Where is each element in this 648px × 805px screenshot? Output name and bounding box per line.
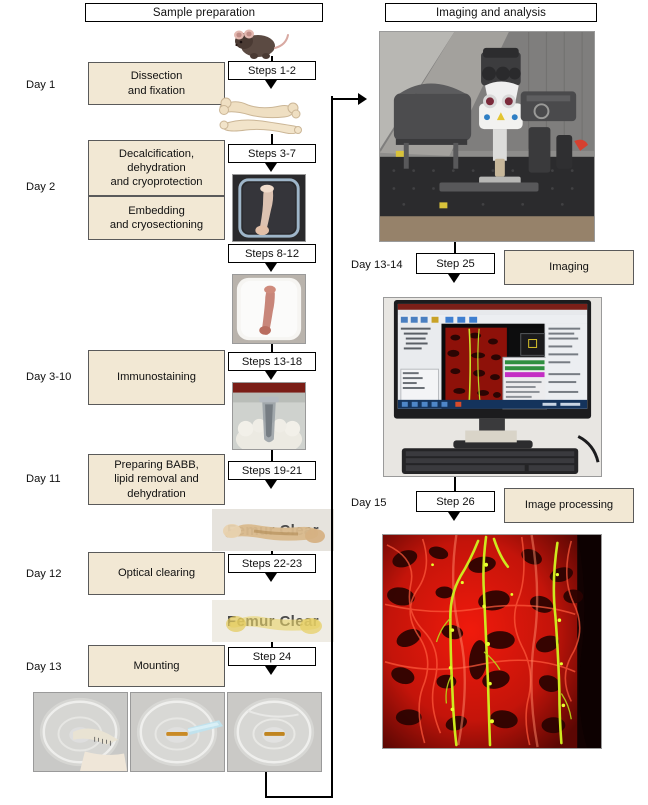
connector-arrow-5 — [265, 480, 277, 489]
connector-line-right-riser — [331, 96, 333, 798]
stage-box-mounting: Mounting — [88, 645, 225, 687]
stage-line-2: and fixation — [128, 84, 185, 98]
stage-box-preparing-babb-lipid-removal-dehydration: Preparing BABB, lipid removal and dehydr… — [88, 454, 225, 505]
stage-box-embedding-and-cryosectioning: Embedding and cryosectioning — [88, 196, 225, 240]
stage-line-1: Image processing — [525, 498, 613, 512]
step-label: Steps 3-7 — [248, 148, 296, 160]
stage-box-decalcification-dehydration-cryoprotection: Decalcification, dehydration and cryopro… — [88, 140, 225, 196]
day-label-text: Day 13 — [26, 661, 61, 673]
mounting-dish-step1-photo — [33, 692, 128, 772]
day-label-text: Day 11 — [26, 473, 61, 485]
day-label-text: Day 15 — [351, 497, 386, 509]
step-label: Step 24 — [253, 651, 292, 663]
connector-arrow-2 — [265, 163, 277, 172]
column-header-label: Sample preparation — [153, 7, 255, 19]
connector-line-to-imaging — [331, 98, 359, 100]
bone-before-clearing-photo: Femur Clear — [212, 509, 334, 551]
step-box-steps-3-7: Steps 3-7 — [228, 144, 316, 163]
day-label-row-6: Day 12 — [26, 565, 86, 583]
step-label: Step 25 — [436, 258, 475, 270]
day-label-text: Day 13-14 — [351, 259, 403, 271]
step-box-step-25: Step 25 — [416, 253, 495, 274]
connector-line-bottom-across — [265, 796, 333, 798]
step-label: Steps 1-2 — [248, 65, 296, 77]
column-header-sample-preparation: Sample preparation — [85, 3, 323, 22]
stage-line-1: Dissection — [128, 69, 185, 83]
day-label-row-7: Day 13 — [26, 658, 86, 676]
stage-line-1: Immunostaining — [117, 370, 196, 384]
stage-line-3: and cryoprotection — [110, 175, 202, 189]
bone-in-fixative-dish-photo — [232, 174, 306, 242]
stage-line-3: dehydration — [114, 487, 199, 501]
bone-embedded-in-oct-photo — [232, 274, 306, 344]
day-label-row-5: Day 11 — [26, 470, 86, 488]
step-label: Steps 8-12 — [245, 248, 299, 260]
connector-line-5 — [271, 450, 273, 461]
connector-arrow-to-imaging — [358, 93, 367, 105]
connector-arrow-4 — [265, 371, 277, 380]
column-header-label: Imaging and analysis — [436, 7, 546, 19]
day-label-text: Day 2 — [26, 181, 55, 193]
mounting-dish-step2-photo — [130, 692, 225, 772]
connector-arrow-r2 — [448, 512, 460, 521]
step-box-steps-19-21: Steps 19-21 — [228, 461, 316, 480]
mouse-illustration — [228, 26, 292, 62]
stage-line-1: Embedding — [110, 204, 203, 218]
connector-line-bottom-down — [265, 772, 267, 798]
bone-after-clearing-photo: Femur Clear — [212, 600, 334, 642]
stage-box-image-processing: Image processing — [504, 488, 634, 523]
connector-arrow-3 — [265, 263, 277, 272]
two-photon-microscope-photo — [379, 31, 595, 242]
stage-box-imaging: Imaging — [504, 250, 634, 285]
dissected-bones-illustration — [214, 92, 306, 134]
step-label: Steps 19-21 — [242, 465, 302, 477]
stage-line-1: Decalcification, — [110, 147, 202, 161]
stage-line-1: Imaging — [549, 260, 589, 274]
connector-arrow-1 — [265, 80, 277, 89]
step-label: Step 26 — [436, 496, 475, 508]
step-box-steps-8-12: Steps 8-12 — [228, 244, 316, 263]
day-label-text: Day 1 — [26, 79, 55, 91]
step-box-steps-22-23: Steps 22-23 — [228, 554, 316, 573]
stage-line-1: Preparing BABB, — [114, 458, 199, 472]
day-label-right-row-1: Day 13-14 — [351, 256, 421, 274]
day-label-text: Day 3-10 — [26, 371, 71, 383]
step-box-step-24: Step 24 — [228, 647, 316, 666]
sample-tube-immunostaining-photo — [232, 382, 306, 450]
step-box-steps-13-18: Steps 13-18 — [228, 352, 316, 371]
stage-line-2: lipid removal and — [114, 472, 199, 486]
step-label: Steps 13-18 — [242, 356, 302, 368]
step-box-step-26: Step 26 — [416, 491, 495, 512]
mounting-dish-step3-photo — [227, 692, 322, 772]
step-label: Steps 22-23 — [242, 558, 302, 570]
day-label-row-2: Day 2 — [26, 178, 86, 196]
connector-line-1 — [271, 56, 273, 62]
column-header-imaging-and-analysis: Imaging and analysis — [385, 3, 597, 22]
day-label-text: Day 12 — [26, 568, 61, 580]
stage-line-2: dehydration — [110, 161, 202, 175]
connector-arrow-r1 — [448, 274, 460, 283]
connector-line-6 — [271, 551, 273, 554]
connector-line-2 — [271, 134, 273, 144]
stage-box-immunostaining: Immunostaining — [88, 350, 225, 405]
stage-box-optical-clearing: Optical clearing — [88, 552, 225, 595]
stage-line-1: Mounting — [133, 659, 179, 673]
stage-line-2: and cryosectioning — [110, 218, 203, 232]
day-label-row-4: Day 3-10 — [26, 368, 92, 386]
stage-line-1: Optical clearing — [118, 566, 195, 580]
connector-arrow-6 — [265, 573, 277, 582]
processed-vasculature-nerve-image — [382, 534, 602, 749]
connector-line-7 — [271, 642, 273, 647]
day-label-row-1: Day 1 — [26, 76, 86, 94]
day-label-right-row-2: Day 15 — [351, 494, 421, 512]
imaging-workstation-monitor-photo — [383, 297, 602, 477]
step-box-steps-1-2: Steps 1-2 — [228, 61, 316, 80]
connector-line-4 — [271, 344, 273, 352]
stage-box-dissection-and-fixation: Dissection and fixation — [88, 62, 225, 105]
connector-arrow-7 — [265, 666, 277, 675]
